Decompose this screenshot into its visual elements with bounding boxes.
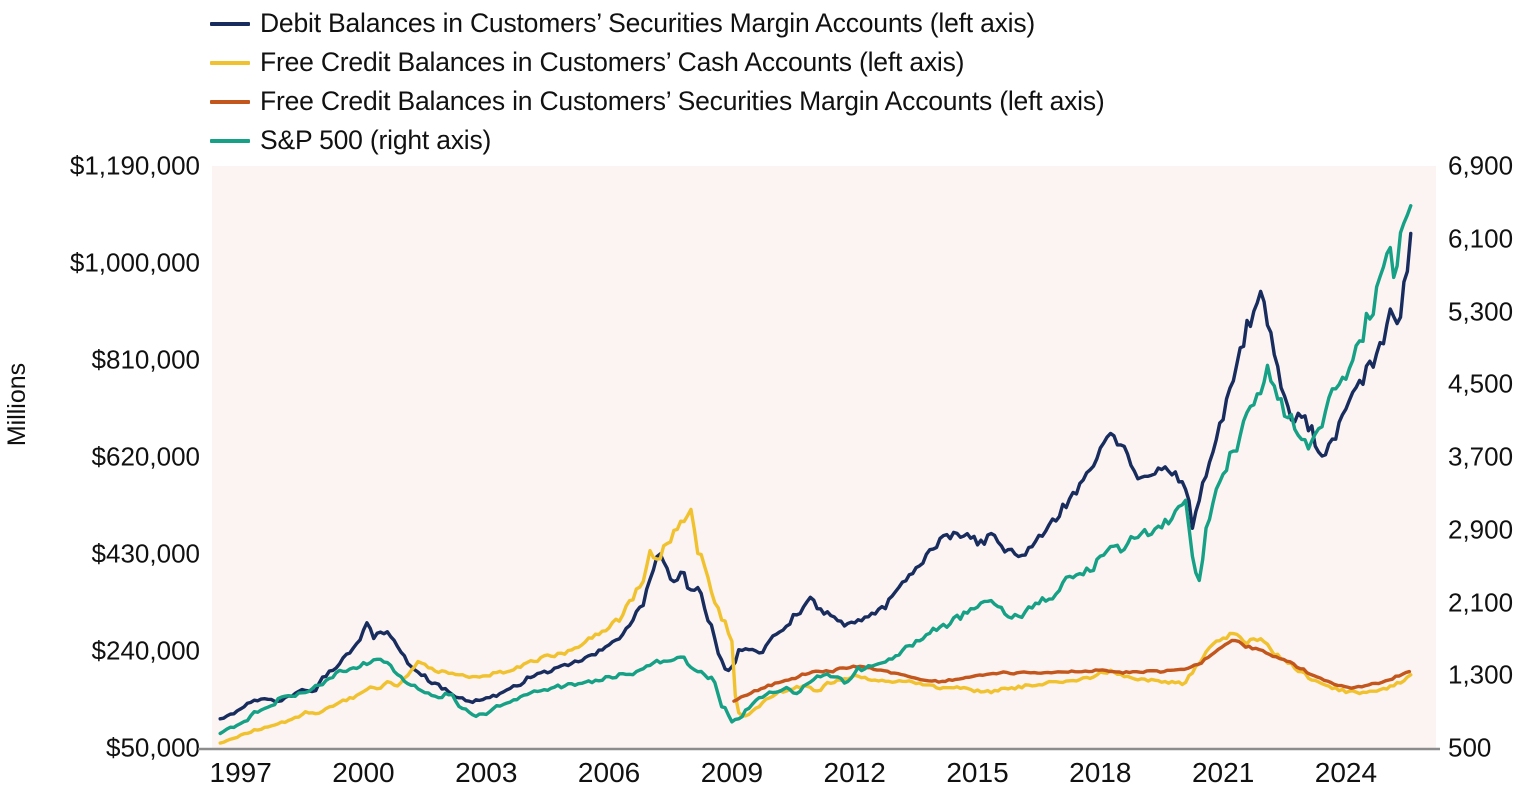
x-axis-tick-label: 2009 <box>701 757 763 789</box>
chart-root: Debit Balances in Customers’ Securities … <box>0 0 1540 804</box>
legend-item-free-credit-margin: Free Credit Balances in Customers’ Secur… <box>210 82 1410 121</box>
y-axis-right-tick-label: 6,900 <box>1448 151 1540 182</box>
legend-swatch-free-credit-margin <box>210 100 250 104</box>
series-line-0 <box>220 233 1411 718</box>
series-layer <box>220 206 1411 743</box>
series-line-2 <box>734 640 1409 701</box>
chart-legend: Debit Balances in Customers’ Securities … <box>210 4 1410 160</box>
legend-label-free-credit-cash: Free Credit Balances in Customers’ Cash … <box>260 49 964 76</box>
x-axis-tick-label: 1997 <box>209 757 271 789</box>
y-axis-left-tick-label: $810,000 <box>0 345 200 376</box>
series-line-3 <box>220 206 1411 734</box>
legend-item-sp500: S&P 500 (right axis) <box>210 121 1410 160</box>
legend-item-free-credit-cash: Free Credit Balances in Customers’ Cash … <box>210 43 1410 82</box>
legend-label-sp500: S&P 500 (right axis) <box>260 127 491 154</box>
y-axis-left-tick-label: $1,000,000 <box>0 248 200 279</box>
y-axis-right-tick-label: 1,300 <box>1448 660 1540 691</box>
y-axis-right-tick-label: 2,900 <box>1448 514 1540 545</box>
x-axis-tick-label: 2006 <box>578 757 640 789</box>
x-axis-tick-label: 2015 <box>946 757 1008 789</box>
y-axis-right-tick-label: 5,300 <box>1448 296 1540 327</box>
y-axis-right-tick-label: 4,500 <box>1448 369 1540 400</box>
legend-label-free-credit-margin: Free Credit Balances in Customers’ Secur… <box>260 88 1105 115</box>
legend-item-debit-balances: Debit Balances in Customers’ Securities … <box>210 4 1410 43</box>
legend-swatch-free-credit-cash <box>210 61 250 65</box>
plot-background <box>212 166 1436 748</box>
y-axis-right-tick-label: 3,700 <box>1448 442 1540 473</box>
x-axis-tick-label: 2024 <box>1315 757 1377 789</box>
legend-swatch-sp500 <box>210 139 250 143</box>
y-axis-left-tick-label: $1,190,000 <box>0 151 200 182</box>
x-axis-tick-label: 2000 <box>332 757 394 789</box>
y-axis-right-ticks: 5001,3002,1002,9003,7004,5005,3006,1006,… <box>1448 0 1540 804</box>
series-line-1 <box>220 509 1411 743</box>
x-axis-tick-label: 2021 <box>1192 757 1254 789</box>
y-axis-left-tick-label: $620,000 <box>0 442 200 473</box>
x-axis-tick-label: 2012 <box>824 757 886 789</box>
legend-swatch-debit-balances <box>210 22 250 26</box>
x-axis-ticks: 1997200020032006200920122015201820212024 <box>0 757 1540 801</box>
x-axis-tick-label: 2003 <box>455 757 517 789</box>
y-axis-right-tick-label: 6,100 <box>1448 223 1540 254</box>
y-axis-right-tick-label: 2,100 <box>1448 587 1540 618</box>
y-axis-left-tick-label: $240,000 <box>0 636 200 667</box>
y-axis-left-tick-label: $430,000 <box>0 539 200 570</box>
y-axis-left-ticks: $50,000$240,000$430,000$620,000$810,000$… <box>0 0 200 804</box>
x-axis-tick-label: 2018 <box>1069 757 1131 789</box>
legend-label-debit-balances: Debit Balances in Customers’ Securities … <box>260 10 1035 37</box>
